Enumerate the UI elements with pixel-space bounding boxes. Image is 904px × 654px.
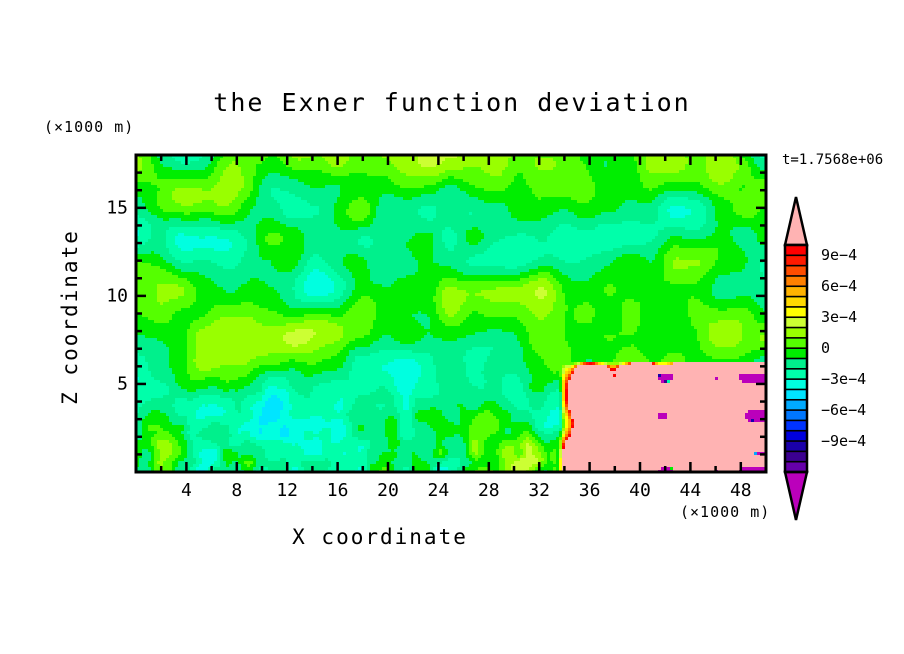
colorbar-band: [785, 359, 807, 370]
colorbar-band: [785, 451, 807, 462]
colorbar-band: [785, 400, 807, 411]
x-tick-label: 48: [730, 480, 752, 501]
colorbar-band: [785, 410, 807, 421]
colorbar-band: [785, 338, 807, 349]
x-tick-label: 36: [579, 480, 601, 501]
x-tick-label: 4: [181, 480, 192, 501]
y-axis-title: Z coordinate: [58, 212, 82, 422]
contour-field: [136, 155, 767, 474]
colorbar-tick-label: 3e−4: [821, 308, 857, 326]
contour-plot-figure: the Exner function deviation (×1000 m) t…: [0, 0, 904, 654]
colorbar-tick-label: −6e−4: [821, 401, 866, 419]
colorbar-band: [785, 431, 807, 442]
colorbar-tick-label: −9e−4: [821, 432, 866, 450]
colorbar-tick-label: 6e−4: [821, 277, 857, 295]
x-tick-label: 16: [327, 480, 349, 501]
x-tick-label: 32: [528, 480, 550, 501]
colorbar-band: [785, 286, 807, 297]
colorbar-band: [785, 307, 807, 318]
colorbar-band: [785, 379, 807, 390]
colorbar-tick-label: 9e−4: [821, 246, 857, 264]
colorbar-band: [785, 255, 807, 266]
colorbar-band: [785, 245, 807, 256]
x-axis-title: X coordinate: [0, 525, 760, 549]
colorbar-under-arrow: [785, 472, 807, 520]
y-tick-label: 5: [88, 373, 128, 394]
y-tick-label: 10: [88, 285, 128, 306]
x-tick-label: 40: [629, 480, 651, 501]
y-tick-label: 15: [88, 197, 128, 218]
x-tick-label: 8: [231, 480, 242, 501]
colorbar-band: [785, 297, 807, 308]
colorbar-band: [785, 369, 807, 380]
x-tick-label: 24: [428, 480, 450, 501]
x-tick-label: 20: [377, 480, 399, 501]
colorbar-band: [785, 420, 807, 431]
colorbar-band: [785, 317, 807, 328]
colorbar-band: [785, 266, 807, 277]
colorbar-over-arrow: [785, 197, 807, 245]
colorbar-band: [785, 328, 807, 339]
x-axis-units-label: (×1000 m): [680, 503, 770, 521]
colorbar-band: [785, 276, 807, 287]
x-tick-label: 28: [478, 480, 500, 501]
colorbar-band: [785, 441, 807, 452]
colorbar-tick-label: −3e−4: [821, 370, 866, 388]
colorbar-tick-label: 0: [821, 339, 830, 357]
page-title: the Exner function deviation: [0, 88, 904, 117]
x-tick-label: 44: [680, 480, 702, 501]
x-tick-label: 12: [276, 480, 298, 501]
colorbar-band: [785, 348, 807, 359]
colorbar[interactable]: [785, 197, 807, 520]
colorbar-band: [785, 389, 807, 400]
timestamp-annotation: t=1.7568e+06: [782, 152, 883, 168]
y-axis-units-label: (×1000 m): [44, 118, 134, 136]
